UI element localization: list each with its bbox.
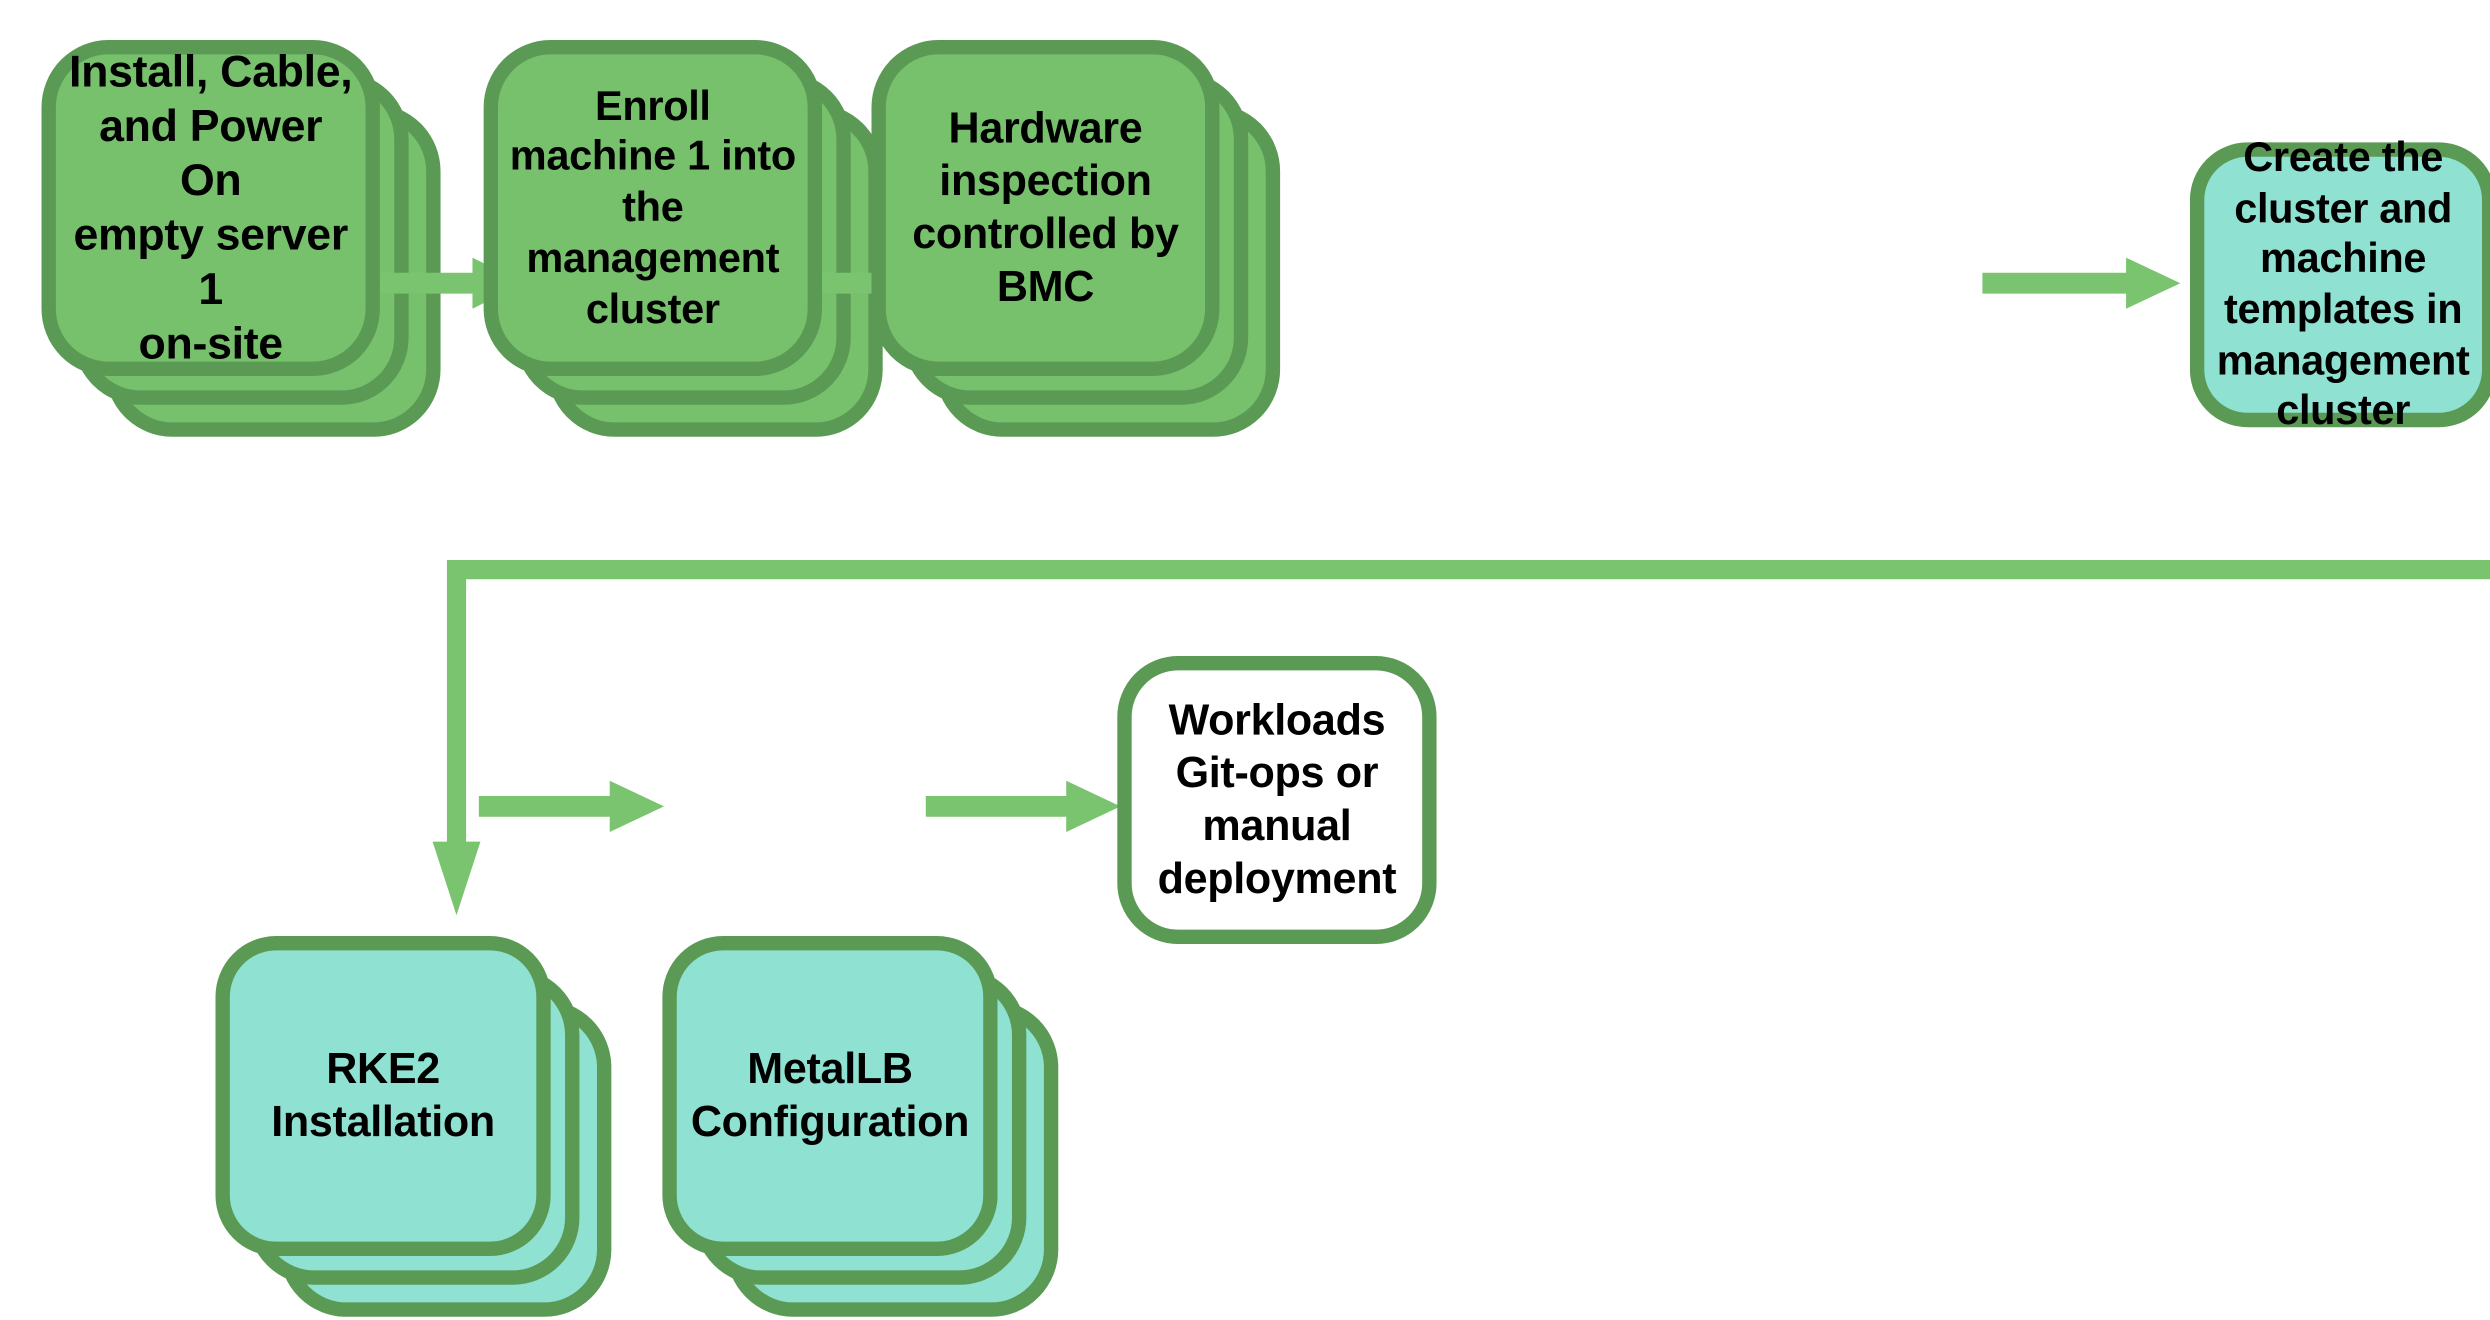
node-enroll-machine[interactable]: Enroll machine 1 into the management clu… [484,40,909,440]
node-card[interactable]: RKE2 Installation [215,936,550,1256]
node-hardware-inspection[interactable]: Hardware inspection controlled by BMC [872,40,1319,440]
node-label: Hardware inspection controlled by BMC [903,103,1189,314]
edge-hardware-to-create-cluster [1982,248,2186,318]
node-label: MetalLB Configuration [681,1043,978,1148]
node-card[interactable]: Create the cluster and machine templates… [2190,142,2490,427]
node-card[interactable]: Workloads Git-ops or manual deployment [1117,656,1436,944]
node-card[interactable]: Enroll machine 1 into the management clu… [484,40,822,376]
node-install-cable-power[interactable]: Install, Cable, and Power On empty serve… [42,40,467,440]
node-create-cluster-templates[interactable]: Create the cluster and machine templates… [2190,142,2490,427]
node-label: Install, Cable, and Power On empty serve… [56,44,366,372]
node-card[interactable]: Install, Cable, and Power On empty serve… [42,40,380,376]
edge-rke2-to-metallb [479,771,671,841]
node-label: Workloads Git-ops or manual deployment [1148,695,1406,906]
node-metallb-configuration[interactable]: MetalLB Configuration [662,936,1087,1320]
node-label: Enroll machine 1 into the management clu… [500,81,805,335]
node-card[interactable]: MetalLB Configuration [662,936,997,1256]
node-workloads-deployment[interactable]: Workloads Git-ops or manual deployment [1117,656,1436,944]
node-card[interactable]: Hardware inspection controlled by BMC [872,40,1220,376]
flowchart-canvas: Install, Cable, and Power On empty serve… [0,0,2490,992]
node-label: RKE2 Installation [262,1043,505,1148]
edge-os-installation-to-rke2 [431,429,2490,957]
edge-metallb-to-workloads [926,771,1127,841]
node-label: Create the cluster and machine templates… [2207,133,2479,438]
node-rke2-installation[interactable]: RKE2 Installation [215,936,640,1320]
